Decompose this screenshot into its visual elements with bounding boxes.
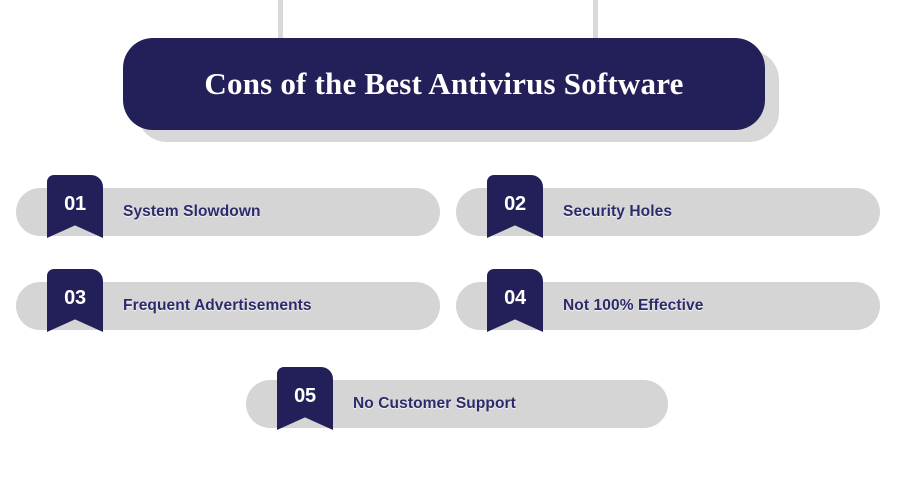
item-number: 05 [294,386,316,406]
item-label: No Customer Support [353,380,516,428]
page-title: Cons of the Best Antivirus Software [204,66,683,102]
list-item[interactable]: 05 No Customer Support [246,380,668,428]
item-label: Security Holes [563,188,672,236]
list-item[interactable]: 03 Frequent Advertisements [16,282,440,330]
list-item[interactable]: 04 Not 100% Effective [456,282,880,330]
header-banner: Cons of the Best Antivirus Software [123,38,765,130]
item-label: Not 100% Effective [563,282,704,330]
item-number: 04 [504,288,526,308]
list-item[interactable]: 01 System Slowdown [16,188,440,236]
item-label: Frequent Advertisements [123,282,312,330]
list-item[interactable]: 02 Security Holes [456,188,880,236]
item-number: 02 [504,194,526,214]
infographic-canvas: Cons of the Best Antivirus Software 01 S… [0,0,900,500]
item-number: 03 [64,288,86,308]
item-label: System Slowdown [123,188,261,236]
item-number: 01 [64,194,86,214]
